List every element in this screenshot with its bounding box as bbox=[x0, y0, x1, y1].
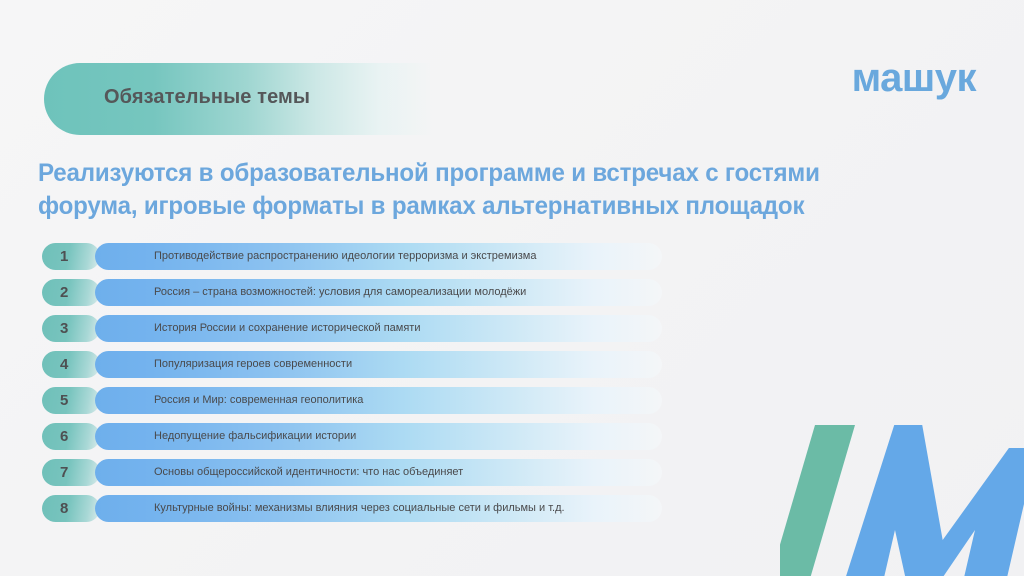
topic-label: Культурные войны: механизмы влияния чере… bbox=[154, 495, 565, 522]
list-item: 4 Популяризация героев современности bbox=[42, 351, 662, 378]
topic-number-badge bbox=[42, 423, 100, 450]
brand-mark-icon bbox=[780, 400, 1024, 576]
topic-label: Основы общероссийской идентичности: что … bbox=[154, 459, 463, 486]
subtitle-line-1: Реализуются в образовательной программе … bbox=[38, 157, 907, 190]
list-item: 2 Россия – страна возможностей: условия … bbox=[42, 279, 662, 306]
list-item: 3 История России и сохранение историческ… bbox=[42, 315, 662, 342]
topic-number: 5 bbox=[60, 387, 68, 414]
topic-number: 8 bbox=[60, 495, 68, 522]
topic-label: Россия и Мир: современная геополитика bbox=[154, 387, 363, 414]
topic-number: 6 bbox=[60, 423, 68, 450]
topic-number-badge bbox=[42, 315, 100, 342]
list-item: 6 Недопущение фальсификации истории bbox=[42, 423, 662, 450]
topic-number: 2 bbox=[60, 279, 68, 306]
topic-label: История России и сохранение исторической… bbox=[154, 315, 421, 342]
topic-label: Россия – страна возможностей: условия дл… bbox=[154, 279, 526, 306]
topic-number-badge bbox=[42, 243, 100, 270]
topic-label: Недопущение фальсификации истории bbox=[154, 423, 356, 450]
list-item: 7 Основы общероссийской идентичности: чт… bbox=[42, 459, 662, 486]
topic-number-badge bbox=[42, 495, 100, 522]
slide: машук Обязательные темы Реализуются в об… bbox=[0, 0, 1024, 576]
topic-list: 1 Противодействие распространению идеоло… bbox=[42, 243, 662, 531]
topic-number: 7 bbox=[60, 459, 68, 486]
topic-label: Противодействие распространению идеологи… bbox=[154, 243, 536, 270]
subtitle-line-2: форума, игровые форматы в рамках альтерн… bbox=[38, 190, 907, 223]
topic-number-badge bbox=[42, 351, 100, 378]
list-item: 8 Культурные войны: механизмы влияния че… bbox=[42, 495, 662, 522]
page-title: Обязательные темы bbox=[104, 86, 310, 109]
topic-number: 3 bbox=[60, 315, 68, 342]
topic-number-badge bbox=[42, 279, 100, 306]
list-item: 5 Россия и Мир: современная геополитика bbox=[42, 387, 662, 414]
topic-number: 1 bbox=[60, 243, 68, 270]
topic-label: Популяризация героев современности bbox=[154, 351, 352, 378]
topic-number: 4 bbox=[60, 351, 68, 378]
brand-wordmark: машук bbox=[852, 58, 976, 98]
topic-number-badge bbox=[42, 387, 100, 414]
list-item: 1 Противодействие распространению идеоло… bbox=[42, 243, 662, 270]
subtitle: Реализуются в образовательной программе … bbox=[38, 157, 907, 223]
topic-number-badge bbox=[42, 459, 100, 486]
